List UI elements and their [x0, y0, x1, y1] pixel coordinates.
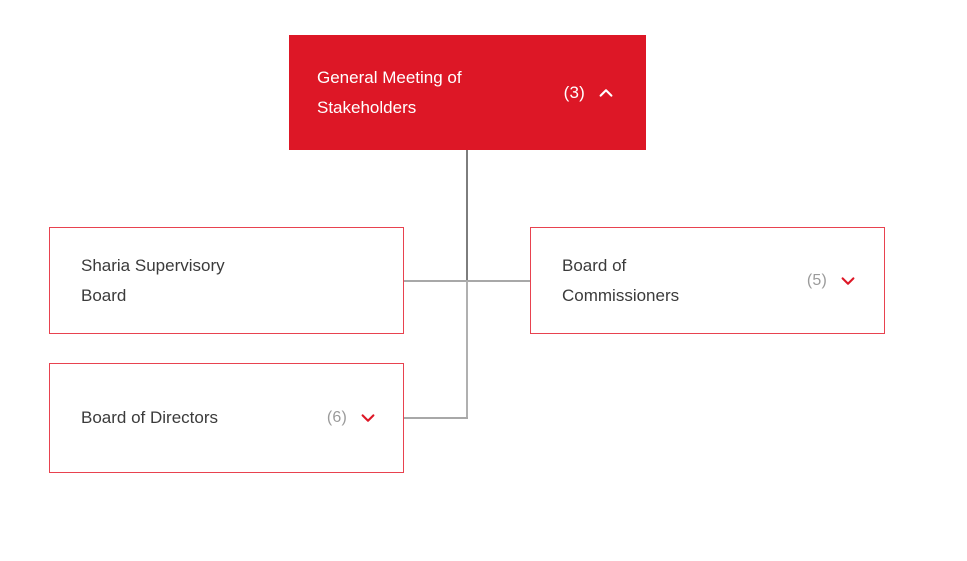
org-chart: General Meeting of Stakeholders (3) Shar… — [0, 0, 967, 561]
org-node-sharia-supervisory-board[interactable]: Sharia Supervisory Board — [49, 227, 404, 334]
chevron-down-icon[interactable] — [839, 272, 857, 290]
org-node-label: General Meeting of Stakeholders — [317, 63, 462, 123]
org-node-board-of-commissioners[interactable]: Board of Commissioners (5) — [530, 227, 885, 334]
org-node-board-of-directors[interactable]: Board of Directors (6) — [49, 363, 404, 473]
connector-horizontal-to-sharia — [404, 280, 467, 282]
org-node-meta: (3) — [564, 83, 615, 103]
org-node-count: (5) — [807, 272, 827, 290]
chevron-up-icon[interactable] — [597, 84, 615, 102]
connector-vertical-to-directors — [466, 281, 468, 419]
org-node-count: (3) — [564, 83, 585, 103]
org-node-label: Board of Directors — [81, 403, 218, 433]
connector-horizontal-to-directors — [404, 417, 468, 419]
connector-horizontal-to-commissioners — [466, 280, 531, 282]
org-node-label: Sharia Supervisory Board — [81, 251, 225, 311]
org-node-general-meeting-of-stakeholders[interactable]: General Meeting of Stakeholders (3) — [289, 35, 646, 150]
org-node-label: Board of Commissioners — [562, 251, 679, 311]
chevron-down-icon[interactable] — [359, 409, 377, 427]
org-node-count: (6) — [327, 409, 347, 427]
connector-root-vertical — [466, 150, 468, 282]
org-node-meta: (5) — [807, 272, 857, 290]
org-node-meta: (6) — [327, 409, 377, 427]
